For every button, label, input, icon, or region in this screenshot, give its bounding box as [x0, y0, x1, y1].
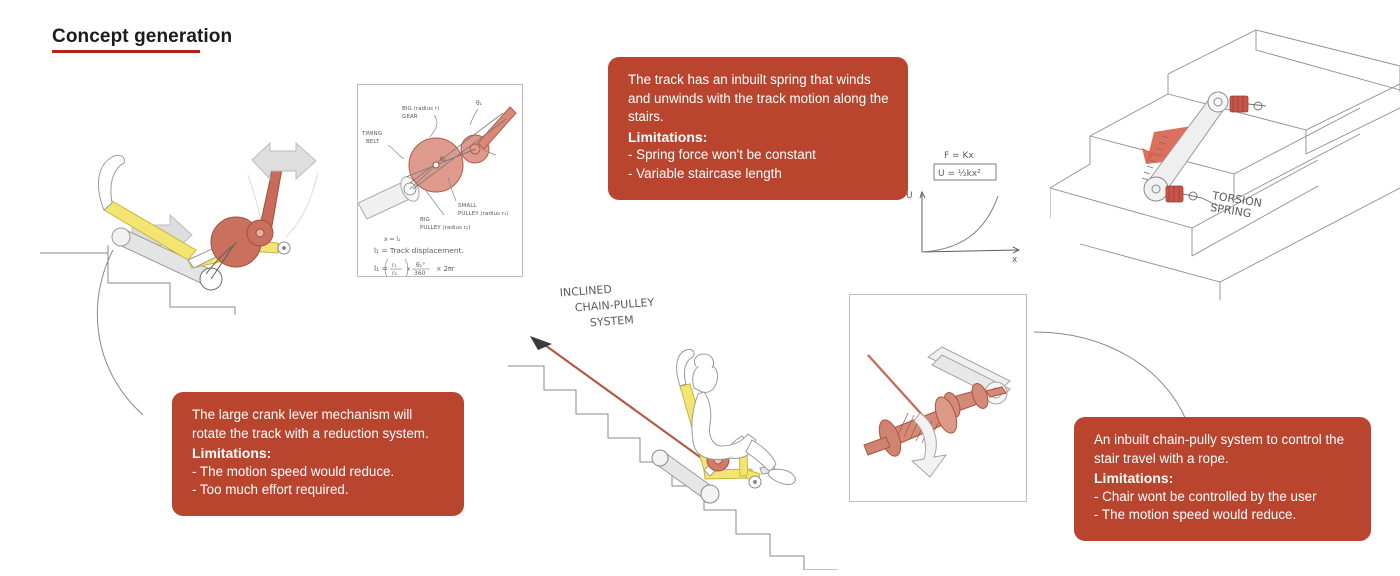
callout-chain-limitation-2: - The motion speed would reduce.	[1094, 506, 1353, 525]
red-step-highlight	[1146, 126, 1192, 164]
label-big-pulley-line2: PULLEY (radius r₂)	[420, 225, 470, 231]
chair-track	[652, 450, 719, 503]
formula-frac1-den: r₂	[392, 270, 397, 276]
track-arm	[1142, 92, 1228, 201]
label-small-pulley-line1: SMALL	[458, 203, 477, 209]
sketch-stairclimber-chair-on-stairs	[508, 330, 838, 570]
formula-tail: × 2πr	[436, 265, 455, 273]
page-title: Concept generation	[52, 26, 232, 48]
sketch-crank-lever-mechanism	[20, 55, 370, 315]
label-timing-belt-line2: BELT	[366, 139, 380, 145]
callout-chain-concept: An inbuilt chain-pully system to control…	[1074, 417, 1371, 541]
arrow-icon	[132, 215, 192, 255]
callout-chain-limitations-label: Limitations:	[1094, 469, 1353, 488]
callout-spring-concept: The track has an inbuilt spring that win…	[608, 57, 908, 200]
sketch-inclined-system-label: INCLINED CHAIN-PULLEY SYSTEM	[556, 282, 686, 338]
label-big-gear-line1: BIG (radius r)	[402, 106, 439, 112]
chair-frame	[680, 384, 760, 482]
equation-force: F = Kx	[944, 151, 974, 161]
callout-spring-limitations-label: Limitations:	[628, 128, 890, 147]
big-gear	[211, 217, 261, 267]
crank-lever-red	[258, 157, 284, 237]
formula-frac2-num: θ₂°	[416, 262, 425, 269]
label-theta1: θ₁	[476, 100, 483, 107]
label-inclined-line2: CHAIN-PULLEY	[574, 296, 655, 315]
axis-label-x: x	[1012, 255, 1018, 265]
label-big-gear-line2: GEAR	[402, 114, 418, 120]
formula-lhs: l₁ =	[374, 264, 388, 273]
track-body	[112, 228, 222, 290]
slide-canvas: Concept generation	[0, 0, 1400, 576]
drive-pulley	[707, 449, 729, 471]
label-small-pulley-line2: PULLEY (radius r₁)	[458, 211, 508, 217]
label-inclined-line3: SYSTEM	[589, 313, 634, 329]
wheel	[749, 476, 761, 488]
label-timing-belt-line1: TIMING	[361, 131, 382, 137]
callout-chain-limitation-1: - Chair wont be controlled by the user	[1094, 488, 1353, 507]
connector-chain-callout	[1028, 320, 1198, 430]
callout-spring-body: The track has an inbuilt spring that win…	[628, 71, 890, 127]
chair-frame-yellow	[104, 201, 278, 268]
label-big-pulley-line1: BIG	[420, 217, 430, 223]
seated-person	[692, 354, 795, 485]
sketch-track-torsion-spring-stairs: TORSION SPRING	[1050, 28, 1400, 300]
knob	[278, 242, 290, 254]
callout-spring-limitation-1: - Spring force won't be constant	[628, 146, 890, 165]
equation-energy: U = ½kx²	[938, 169, 981, 179]
callout-crank-limitation-1: - The motion speed would reduce.	[192, 463, 446, 482]
formula-frac2-den: 360	[414, 270, 426, 276]
callout-crank-concept: The large crank lever mechanism will rot…	[172, 392, 464, 516]
callout-crank-body: The large crank lever mechanism will rot…	[192, 406, 446, 443]
label-inclined-line1: INCLINED	[559, 283, 612, 300]
callout-chain-body: An inbuilt chain-pully system to control…	[1094, 431, 1353, 468]
callout-spring-limitation-2: - Variable staircase length	[628, 165, 890, 184]
label-theta2: θ₂	[440, 156, 447, 163]
label-x-equals: x = l₁	[384, 236, 401, 243]
rope-arrow-icon	[530, 336, 552, 350]
formula-frac1-num: r₁	[392, 262, 397, 269]
detail-frame-gear-schematic: BIG (radius r) GEAR TIMING BELT SMALL PU…	[357, 84, 523, 277]
torsion-spring-lower	[1166, 186, 1183, 202]
title-underline	[52, 50, 200, 53]
rotation-arrow-icon	[252, 143, 316, 179]
sketch-spring-energy-graph: F = Kx U = ½kx² U x	[900, 140, 1040, 275]
rope-line	[868, 355, 924, 417]
formula-mid: ×	[406, 266, 411, 273]
callout-crank-limitation-2: - Too much effort required.	[192, 481, 446, 500]
small-pulley	[247, 220, 273, 246]
callout-crank-limitations-label: Limitations:	[192, 444, 446, 463]
torsion-spring-upper	[1230, 96, 1248, 112]
formula-track-displacement: l₁ = Track displacement.	[374, 246, 464, 255]
label-torsion-line1: TORSION	[1210, 189, 1263, 210]
label-torsion-line2: SPRING	[1209, 201, 1252, 220]
rope	[538, 340, 718, 470]
detail-frame-spool-mechanism	[849, 294, 1027, 502]
